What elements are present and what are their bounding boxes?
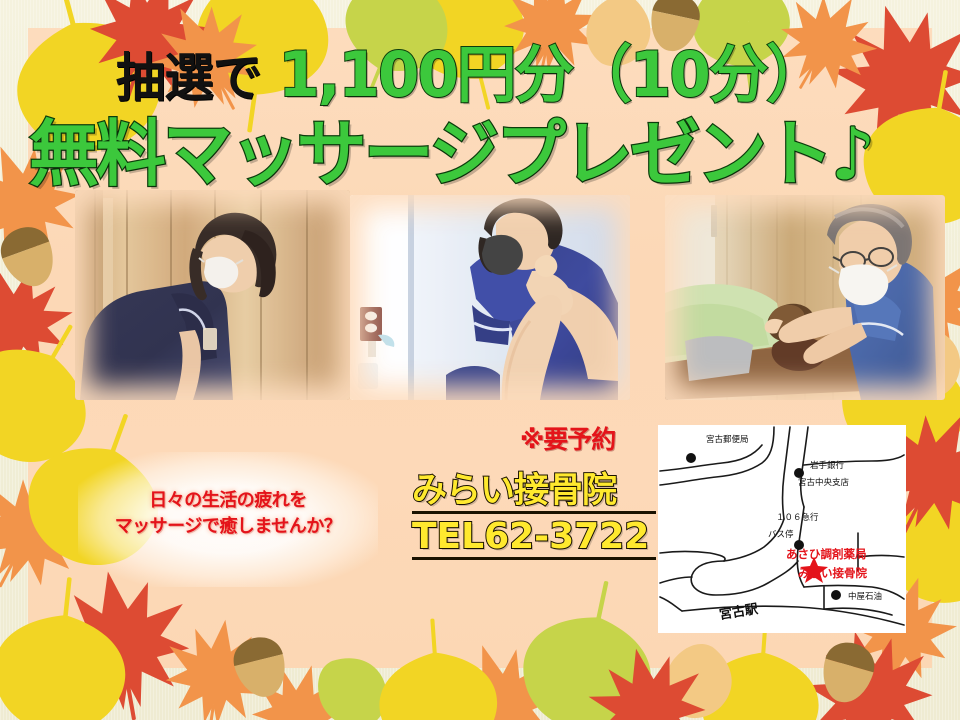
slogan-text: 日々の生活の疲れを マッサージで癒しませんか？ <box>78 488 378 540</box>
map-label-bus-stop: バス停 <box>768 529 794 540</box>
location-map[interactable]: 宮古郵便局 岩手銀行 宮古中央支店 １０６急行 バス停 あさひ調剤薬局 みらい接… <box>658 425 906 633</box>
map-label-bank-branch: 宮古中央支店 <box>798 477 850 488</box>
photo-female-practitioner <box>75 190 350 400</box>
headline-line-2: 無料マッサージプレゼント♪ <box>29 95 872 200</box>
clinic-contact-block: みらい接骨院 TEL62-3722 <box>412 473 656 560</box>
map-label-post-office: 宮古郵便局 <box>706 434 749 445</box>
clinic-telephone[interactable]: TEL62-3722 <box>412 517 656 561</box>
slogan-line-2: マッサージで癒しませんか？ <box>78 514 378 540</box>
photo-leg-treatment <box>350 195 630 400</box>
map-label-bus-line: １０６急行 <box>776 512 819 523</box>
map-label-gas-station: 中屋石油 <box>848 591 882 602</box>
poster-canvas: 抽選で 1,100円分（10分） 無料マッサージプレゼント♪ <box>0 0 960 720</box>
reservation-note: ※要予約 <box>520 420 615 456</box>
clinic-name: みらい接骨院 <box>412 473 656 514</box>
map-label-bank: 岩手銀行 <box>810 460 845 471</box>
photo-table-treatment <box>665 195 945 400</box>
slogan-line-1: 日々の生活の疲れを <box>78 488 378 514</box>
map-label-pharmacy: あさひ調剤薬局 <box>786 547 867 561</box>
map-label-clinic: みらい接骨院 <box>798 566 867 580</box>
